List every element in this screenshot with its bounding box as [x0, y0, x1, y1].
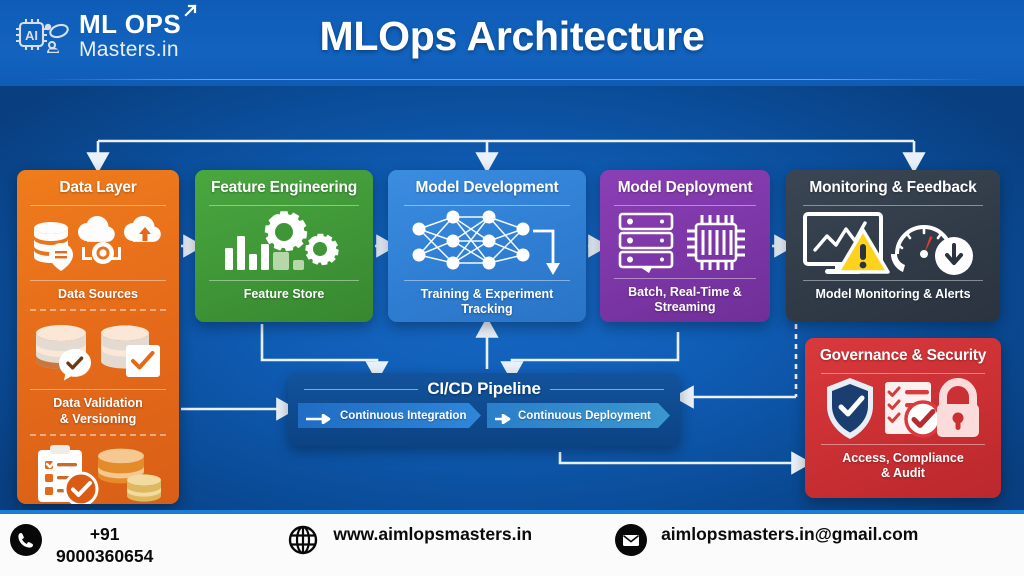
- header-divider: [36, 79, 988, 80]
- globe-icon: [287, 524, 319, 556]
- panel-title-model-deployment: Model Deployment: [600, 170, 770, 205]
- cicd-stage-label: Continuous Deployment: [518, 410, 651, 422]
- panel-title-governance-security: Governance & Security: [805, 338, 1001, 373]
- data-sources-icon-group: [17, 206, 179, 280]
- monitoring-icon-group: [786, 206, 1000, 280]
- deployment-icon-group: [600, 206, 770, 278]
- panel-title-model-development: Model Development: [388, 170, 586, 205]
- cicd-header: CI/CD Pipeline: [288, 373, 680, 401]
- arrow-down-right-icon: [533, 231, 560, 275]
- footer-phone[interactable]: +91 9000360654: [10, 514, 153, 568]
- label-model-monitoring-alerts: Model Monitoring & Alerts: [786, 281, 1000, 309]
- envelope-icon: [615, 524, 647, 556]
- panel-model-development[interactable]: Model Development Training & Ex: [388, 170, 586, 322]
- neural-network-icon-group: [388, 206, 586, 280]
- label-deploy-line2: Streaming: [654, 300, 715, 314]
- panel-governance-security[interactable]: Governance & Security: [805, 338, 1001, 498]
- data-validation-icon-group: [17, 311, 179, 389]
- download-circle-icon: [935, 237, 973, 275]
- label-gov-line1: Access, Compliance: [842, 451, 964, 465]
- cpu-chip-icon: [687, 215, 745, 270]
- arrow-right-icon: [306, 411, 334, 421]
- diagram-canvas: AI ML OPS Masters.in: [0, 0, 1024, 576]
- header: AI ML OPS Masters.in: [0, 0, 1024, 86]
- feature-engineering-icon-group: [195, 206, 373, 280]
- label-access-compliance-audit: Access, Compliance & Audit: [805, 445, 1001, 489]
- panel-model-deployment[interactable]: Model Deployment: [600, 170, 770, 322]
- label-gov-line2: & Audit: [881, 466, 925, 480]
- footer-phone-line1: +91: [90, 524, 120, 544]
- footer-website[interactable]: www.aimlopsmasters.in: [287, 514, 532, 556]
- divider: [304, 389, 418, 390]
- clipboard-database-icon-group: [17, 436, 179, 504]
- panel-cicd-pipeline[interactable]: CI/CD Pipeline Continuous Integration Co: [288, 373, 680, 446]
- label-deploy-line1: Batch, Real-Time &: [628, 285, 742, 299]
- phone-icon: [10, 524, 42, 556]
- footer-email-text: aimlopsmasters.in@gmail.com: [661, 524, 918, 546]
- governance-icon-group: [805, 374, 1001, 444]
- page-title: MLOps Architecture: [0, 13, 1024, 60]
- footer-contact-bar: +91 9000360654 www.aimlopsmasters.in: [0, 510, 1024, 576]
- check-circle-icon: [906, 402, 940, 436]
- panel-title-feature-engineering: Feature Engineering: [195, 170, 373, 205]
- label-feature-store: Feature Store: [195, 281, 373, 309]
- label-training-experiment-tracking: Training & Experiment Tracking: [388, 281, 586, 322]
- panel-feature-engineering[interactable]: Feature Engineering Feature Store: [195, 170, 373, 322]
- cicd-title: CI/CD Pipeline: [427, 379, 540, 399]
- label-data-validation: Data Validation & Versioning: [17, 390, 179, 434]
- label-batch-realtime-streaming: Batch, Real-Time & Streaming: [600, 279, 770, 322]
- footer-phone-line2: 9000360654: [56, 546, 153, 566]
- cicd-stage-continuous-integration[interactable]: Continuous Integration: [298, 403, 481, 428]
- shield-check-icon: [827, 378, 873, 439]
- lock-icon: [937, 382, 979, 437]
- panel-data-layer[interactable]: Data Layer: [17, 170, 179, 504]
- arrow-right-icon: [495, 411, 512, 421]
- label-data-sources: Data Sources: [17, 281, 179, 309]
- label-data-validation-line1: Data Validation: [53, 396, 143, 410]
- cicd-stage-continuous-deployment[interactable]: Continuous Deployment: [487, 403, 670, 428]
- panel-monitoring-feedback[interactable]: Monitoring & Feedback: [786, 170, 1000, 322]
- footer-email[interactable]: aimlopsmasters.in@gmail.com: [615, 514, 918, 556]
- footer-phone-text: +91 9000360654: [56, 524, 153, 568]
- panel-title-monitoring-feedback: Monitoring & Feedback: [786, 170, 1000, 205]
- cicd-stage-label: Continuous Integration: [340, 410, 466, 422]
- footer-website-text: www.aimlopsmasters.in: [333, 524, 532, 546]
- panel-title-data-layer: Data Layer: [17, 170, 179, 205]
- divider: [550, 389, 664, 390]
- cicd-stage-row: Continuous Integration Continuous Deploy…: [288, 401, 680, 428]
- label-data-validation-line2: & Versioning: [60, 412, 136, 426]
